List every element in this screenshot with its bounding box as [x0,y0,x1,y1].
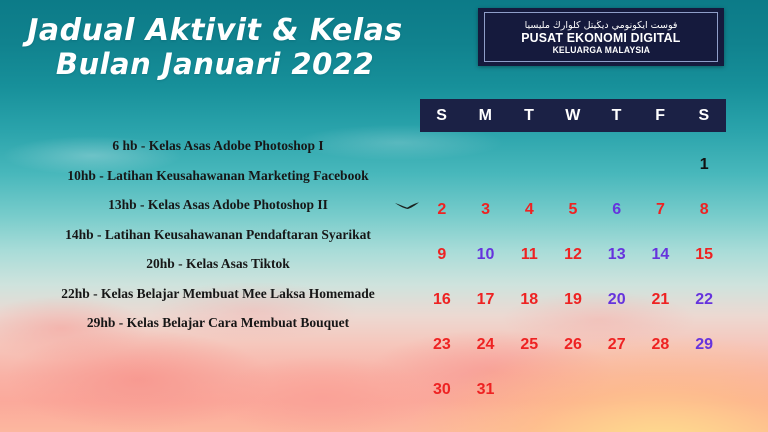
calendar-day-cell[interactable]: 12 [551,232,595,277]
logo-inner-frame: فوست ايكونومي ديڬيتل كلوارڬ مليسيا PUSAT… [484,12,718,62]
calendar-day-grid: 1234567891011121314151617181920212223242… [420,142,726,412]
activity-item: 10hb - Latihan Keusahawanan Marketing Fa… [18,168,418,183]
calendar-weekday: S [682,107,726,125]
calendar-day-cell[interactable]: 18 [507,277,551,322]
calendar-day-cell[interactable]: 6 [595,187,639,232]
title-line-2: Bulan Januari 2022 [0,48,430,80]
calendar-day-cell[interactable]: 11 [507,232,551,277]
title-line-1: Jadual Aktivit & Kelas [0,14,430,48]
calendar-weekday: S [420,107,464,125]
calendar-weekday: M [464,107,508,125]
calendar-day-cell[interactable]: 20 [595,277,639,322]
calendar-day-cell[interactable]: 30 [420,367,464,412]
calendar-day-cell[interactable]: 15 [682,232,726,277]
calendar-day-cell[interactable]: 2 [420,187,464,232]
calendar-day-cell[interactable]: 24 [464,322,508,367]
calendar-day-cell[interactable]: 19 [551,277,595,322]
poster-canvas: Jadual Aktivit & Kelas Bulan Januari 202… [0,0,768,432]
activity-item: 29hb - Kelas Belajar Cara Membuat Bouque… [18,315,418,331]
bird-silhouette-icon [394,201,420,213]
activity-item: 20hb - Kelas Asas Tiktok [18,256,418,272]
calendar: SMTWTFS 12345678910111213141516171819202… [420,99,726,412]
calendar-day-cell[interactable]: 25 [507,322,551,367]
calendar-day-cell[interactable]: 13 [595,232,639,277]
calendar-day-cell[interactable]: 23 [420,322,464,367]
calendar-day-cell[interactable]: 21 [639,277,683,322]
calendar-day-cell[interactable]: 7 [639,187,683,232]
calendar-day-cell[interactable]: 29 [682,322,726,367]
calendar-day-cell[interactable]: 31 [464,367,508,412]
calendar-day-cell[interactable]: 9 [420,232,464,277]
calendar-weekday-header: SMTWTFS [420,99,726,132]
calendar-day-cell[interactable]: 1 [682,142,726,187]
calendar-day-cell[interactable]: 22 [682,277,726,322]
activity-item: 22hb - Kelas Belajar Membuat Mee Laksa H… [18,286,418,301]
calendar-day-cell[interactable]: 3 [464,187,508,232]
calendar-day-cell[interactable]: 26 [551,322,595,367]
poster-title: Jadual Aktivit & Kelas Bulan Januari 202… [0,14,430,80]
activity-item: 14hb - Latihan Keusahawanan Pendaftaran … [18,227,418,242]
organization-logo-badge: فوست ايكونومي ديڬيتل كلوارڬ مليسيا PUSAT… [478,8,724,66]
calendar-day-cell[interactable]: 5 [551,187,595,232]
activity-list: 6 hb - Kelas Asas Adobe Photoshop I10hb … [18,138,418,345]
calendar-day-cell[interactable]: 10 [464,232,508,277]
calendar-day-cell[interactable]: 17 [464,277,508,322]
calendar-weekday: W [551,107,595,125]
calendar-day-cell[interactable]: 8 [682,187,726,232]
calendar-weekday: T [595,107,639,125]
activity-item: 6 hb - Kelas Asas Adobe Photoshop I [18,138,418,154]
calendar-day-cell[interactable]: 28 [639,322,683,367]
calendar-weekday: T [507,107,551,125]
logo-sub-text: KELUARGA MALAYSIA [552,45,650,55]
logo-main-text: PUSAT EKONOMI DIGITAL [521,31,680,45]
calendar-day-cell[interactable]: 27 [595,322,639,367]
activity-item: 13hb - Kelas Asas Adobe Photoshop II [18,197,418,213]
calendar-day-cell[interactable]: 16 [420,277,464,322]
calendar-day-cell[interactable]: 14 [639,232,683,277]
calendar-day-cell[interactable]: 4 [507,187,551,232]
calendar-weekday: F [639,107,683,125]
